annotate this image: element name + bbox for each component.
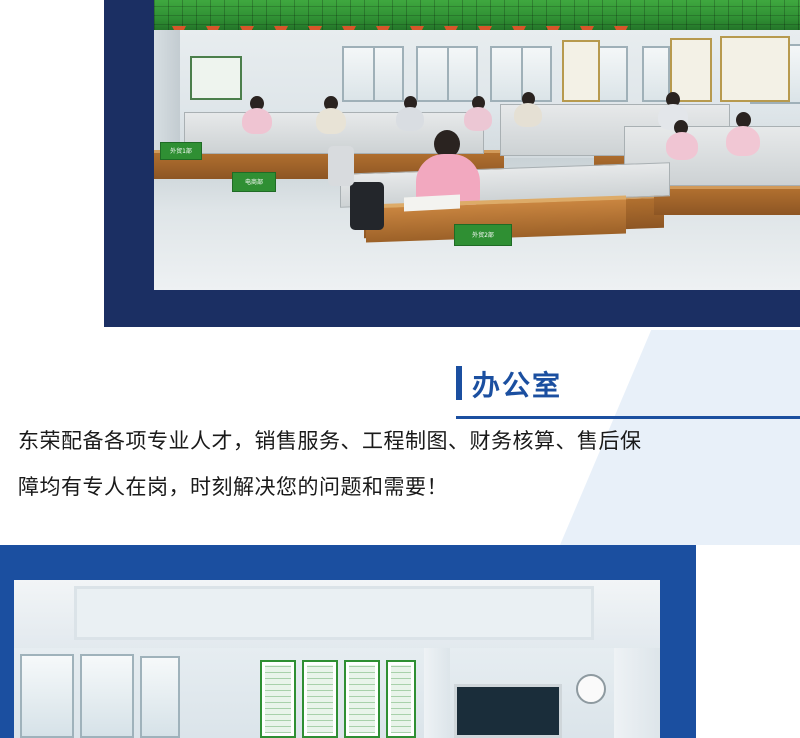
hall-wall-column — [424, 648, 450, 738]
office-photo: 电商部 外贸2部 外贸1部 — [154, 0, 800, 290]
hall-notice-board — [386, 660, 416, 738]
hall-ceiling-inset — [74, 586, 594, 640]
person-body — [316, 108, 346, 134]
department-sign-label: 外贸2部 — [472, 232, 494, 239]
wall-poster — [562, 40, 600, 102]
hall-display-screen — [454, 684, 562, 738]
wall-poster — [190, 56, 242, 100]
hall-photo-section — [0, 545, 800, 738]
title-accent-bar — [456, 366, 462, 400]
section-title-row: 办公室 — [456, 366, 562, 402]
wall-clock-icon — [576, 674, 606, 704]
person-body — [666, 132, 698, 160]
hall-window — [20, 654, 74, 738]
person-body — [464, 107, 492, 131]
hall-photo — [14, 580, 660, 738]
department-sign-ecommerce: 电商部 — [232, 172, 276, 192]
person-body — [242, 108, 272, 134]
hall-notice-board — [260, 660, 296, 738]
paper-on-desk — [404, 195, 460, 212]
hall-wall-column — [614, 648, 660, 738]
wall-poster — [720, 36, 790, 102]
office-description-line-2: 障均有专人在岗，时刻解决您的问题和需要！ — [18, 464, 788, 510]
page-title: 办公室 — [472, 370, 562, 402]
person-body — [726, 126, 760, 156]
department-sign-label: 外贸1部 — [170, 148, 192, 155]
office-text-section: 办公室 东荣配备各项专业人才，销售服务、工程制图、财务核算、售后保 障均有专人在… — [0, 330, 800, 545]
hall-window — [140, 656, 180, 738]
window — [490, 46, 552, 102]
department-sign-foreign-trade-1: 外贸1部 — [160, 142, 202, 160]
office-description: 东荣配备各项专业人才，销售服务、工程制图、财务核算、售后保 障均有专人在岗，时刻… — [18, 418, 788, 510]
desk-row — [654, 186, 800, 215]
hall-notice-board — [344, 660, 380, 738]
office-photo-section: 电商部 外贸2部 外贸1部 — [0, 0, 800, 330]
window — [342, 46, 404, 102]
department-sign-label: 电商部 — [245, 179, 263, 186]
office-chair — [350, 182, 384, 230]
hall-notice-board — [302, 660, 338, 738]
department-sign-foreign-trade-2: 外贸2部 — [454, 224, 512, 246]
window — [416, 46, 478, 102]
person-body — [514, 103, 542, 127]
person-body — [396, 107, 424, 131]
hall-window — [80, 654, 134, 738]
office-chair — [328, 146, 354, 186]
office-description-line-1: 东荣配备各项专业人才，销售服务、工程制图、财务核算、售后保 — [18, 418, 788, 464]
